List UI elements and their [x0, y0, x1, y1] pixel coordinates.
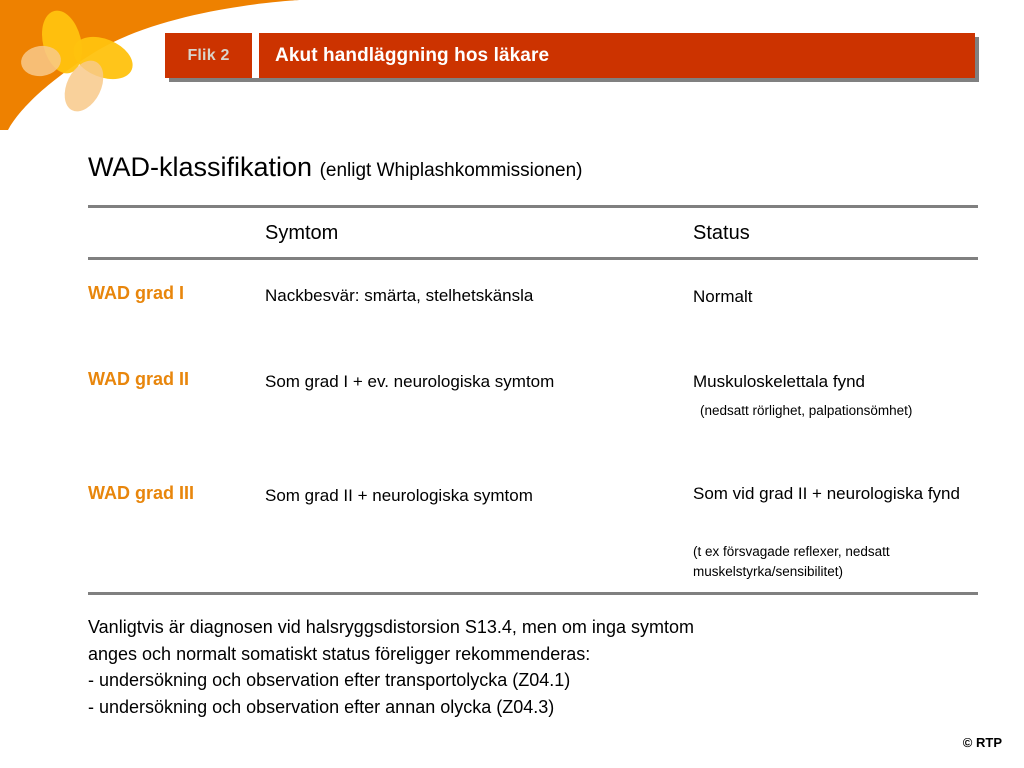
- page-title-sub: (enligt Whiplashkommissionen): [320, 160, 583, 181]
- banner-title-bar: Akut handläggning hos läkare: [259, 33, 975, 78]
- header-title: Akut handläggning hos läkare: [259, 45, 549, 67]
- table-cell-status-3: Som vid grad II + neurologiska fynd: [693, 483, 983, 506]
- footnote-line-2: anges och normalt somatiskt status förel…: [88, 641, 968, 668]
- table-row-grade-2: WAD grad II: [88, 369, 189, 390]
- copyright-notice: © RTP: [963, 735, 1002, 750]
- table-cell-status-note-2: (nedsatt rörlighet, palpationsömhet): [700, 401, 990, 421]
- banner-gap: [252, 33, 259, 78]
- page-title: WAD-klassifikation (enligt Whiplashkommi…: [88, 152, 583, 183]
- table-cell-status-1: Normalt: [693, 286, 983, 309]
- table-cell-status-2: Muskuloskelettala fynd: [693, 371, 983, 394]
- table-cell-status-note-3: (t ex försvagade reflexer, nedsatt muske…: [693, 542, 983, 581]
- slide-canvas: Flik 2 Akut handläggning hos läkare WAD-…: [0, 0, 1024, 768]
- footnote-line-1: Vanligtvis är diagnosen vid halsryggsdis…: [88, 614, 968, 641]
- table-rule-bottom: [88, 592, 978, 595]
- table-rule-top: [88, 205, 978, 208]
- column-header-symtom: Symtom: [265, 222, 338, 245]
- header-banner: Flik 2 Akut handläggning hos läkare: [165, 33, 975, 78]
- table-row-grade-1: WAD grad I: [88, 283, 184, 304]
- butterfly-icon: [19, 6, 139, 117]
- table-row-grade-3: WAD grad III: [88, 483, 194, 504]
- table-cell-symtom-2: Som grad I + ev. neurologiska symtom: [265, 372, 554, 392]
- table-rule-header: [88, 257, 978, 260]
- flik-tab-label: Flik 2: [187, 47, 229, 65]
- footnote-line-3: - undersökning och observation efter tra…: [88, 667, 968, 694]
- page-title-main: WAD-klassifikation: [88, 152, 312, 182]
- footnote-line-4: - undersökning och observation efter ann…: [88, 694, 968, 721]
- column-header-status: Status: [693, 222, 750, 245]
- table-cell-symtom-1: Nackbesvär: smärta, stelhetskänsla: [265, 286, 533, 306]
- flik-tab[interactable]: Flik 2: [165, 33, 252, 78]
- footnote-block: Vanligtvis är diagnosen vid halsryggsdis…: [88, 614, 968, 721]
- table-cell-symtom-3: Som grad II + neurologiska symtom: [265, 486, 533, 506]
